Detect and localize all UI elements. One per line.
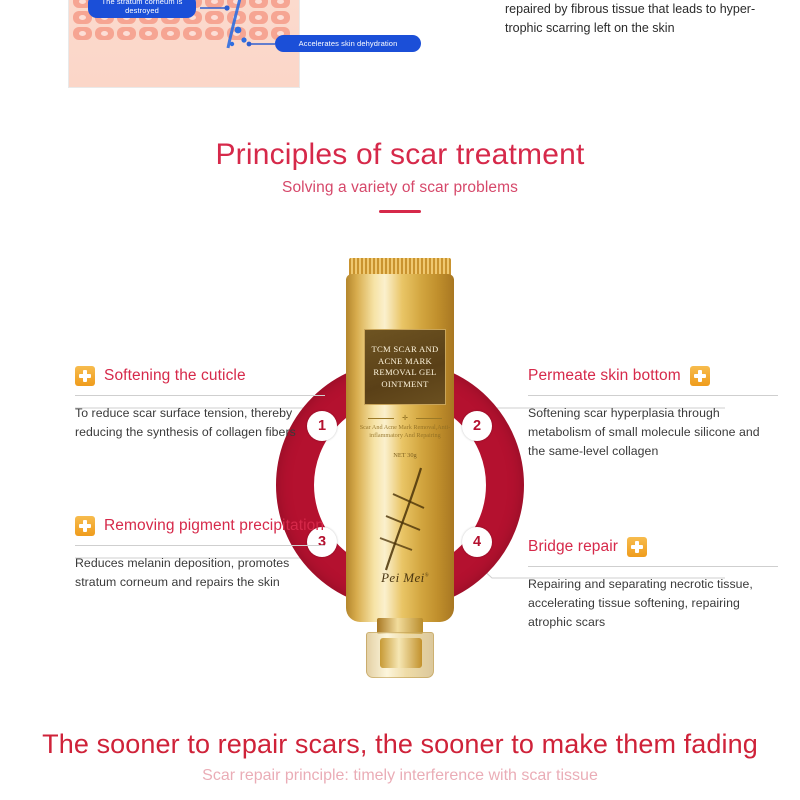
diagram-description-paragraph: repaired by fibrous tissue that leads to… xyxy=(505,0,785,38)
tube-description-text: Scar And Acne Mark Removal,Anti-inflamma… xyxy=(356,424,454,440)
plus-icon xyxy=(627,537,647,557)
feature-header: Bridge repair xyxy=(528,537,778,557)
feature-header: Removing pigment precipitation xyxy=(75,516,325,536)
tube-label-ornament: ✛ xyxy=(368,414,442,422)
plus-icon xyxy=(75,516,95,536)
feature-divider xyxy=(75,395,325,396)
footer-headline: The sooner to repair scars, the sooner t… xyxy=(0,728,800,761)
plus-icon xyxy=(75,366,95,386)
cell-row xyxy=(73,27,299,40)
heading-divider xyxy=(379,210,421,213)
feature-bridge-repair: Bridge repair Repairing and separating n… xyxy=(528,537,778,632)
feature-removing-pigment-precipitation: Removing pigment precipitation Reduces m… xyxy=(75,516,325,592)
feature-divider xyxy=(75,545,325,546)
feature-body: To reduce scar surface tension, thereby … xyxy=(75,404,325,442)
feature-title: Bridge repair xyxy=(528,537,618,557)
callout-skin-dehydration: Accelerates skin dehydration xyxy=(275,35,421,52)
feature-softening-the-cuticle: Softening the cuticle To reduce scar sur… xyxy=(75,366,325,442)
registered-trademark-icon: ® xyxy=(425,574,429,579)
ring-badge-4: 4 xyxy=(462,527,492,557)
footer-clipped-line: Scar repair principle: timely interferen… xyxy=(0,765,800,787)
skin-damage-diagram: The stratum corneum is destroyed Acceler… xyxy=(0,0,800,100)
ring-badge-2: 2 xyxy=(462,411,492,441)
brand-name: Pei Mei® xyxy=(356,570,454,586)
tube-label-text: TCM SCAR AND ACNE MARK REMOVAL GEL OINTM… xyxy=(365,344,445,390)
scar-illustration xyxy=(366,464,444,574)
feature-permeate-skin-bottom: Permeate skin bottom Softening scar hype… xyxy=(528,366,778,461)
feature-title: Softening the cuticle xyxy=(104,366,246,386)
page-subtitle: Solving a variety of scar problems xyxy=(0,179,800,197)
feature-header: Softening the cuticle xyxy=(75,366,325,386)
section-heading: Principles of scar treatment Solving a v… xyxy=(0,138,800,213)
brand-name-text: Pei Mei xyxy=(381,570,425,585)
feature-body: Repairing and separating necrotic tissue… xyxy=(528,575,778,632)
callout-stratum-corneum: The stratum corneum is destroyed xyxy=(88,0,196,18)
footer-headline-block: The sooner to repair scars, the sooner t… xyxy=(0,728,800,787)
plus-icon xyxy=(690,366,710,386)
feature-divider xyxy=(528,566,778,567)
tube-cap xyxy=(366,632,434,678)
feature-title: Removing pigment precipitation xyxy=(104,516,324,536)
feature-body: Reduces melanin deposition, promotes str… xyxy=(75,554,325,592)
tube-body: TCM SCAR AND ACNE MARK REMOVAL GEL OINTM… xyxy=(346,274,454,622)
feature-body: Softening scar hyperplasia through metab… xyxy=(528,404,778,461)
feature-divider xyxy=(528,395,778,396)
tube-crimp-seal xyxy=(349,258,451,275)
tube-net-weight: NET 30g xyxy=(356,452,454,459)
tube-label-panel: TCM SCAR AND ACNE MARK REMOVAL GEL OINTM… xyxy=(364,329,446,405)
product-tube: TCM SCAR AND ACNE MARK REMOVAL GEL OINTM… xyxy=(341,258,459,678)
feature-header: Permeate skin bottom xyxy=(528,366,778,386)
page-title: Principles of scar treatment xyxy=(0,138,800,172)
feature-title: Permeate skin bottom xyxy=(528,366,681,386)
